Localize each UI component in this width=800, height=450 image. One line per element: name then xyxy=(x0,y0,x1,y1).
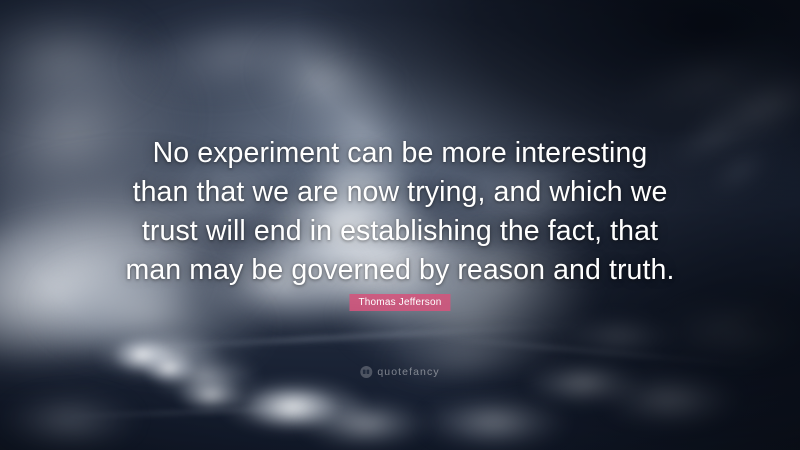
watermark-brand: quotefancy xyxy=(377,366,439,378)
quote-line: trust will end in establishing the fact,… xyxy=(120,212,680,251)
quote-line: man may be governed by reason and truth. xyxy=(120,251,680,290)
quote-mark-circle-icon xyxy=(360,366,372,378)
quote-line: than that we are now trying, and which w… xyxy=(120,173,680,212)
quote-content: No experiment can be more interesting th… xyxy=(0,0,800,450)
quote-image-canvas: No experiment can be more interesting th… xyxy=(0,0,800,450)
quote-text: No experiment can be more interesting th… xyxy=(120,134,680,290)
quote-line: No experiment can be more interesting xyxy=(120,134,680,173)
watermark: quotefancy xyxy=(360,366,439,378)
author-badge: Thomas Jefferson xyxy=(349,294,450,311)
